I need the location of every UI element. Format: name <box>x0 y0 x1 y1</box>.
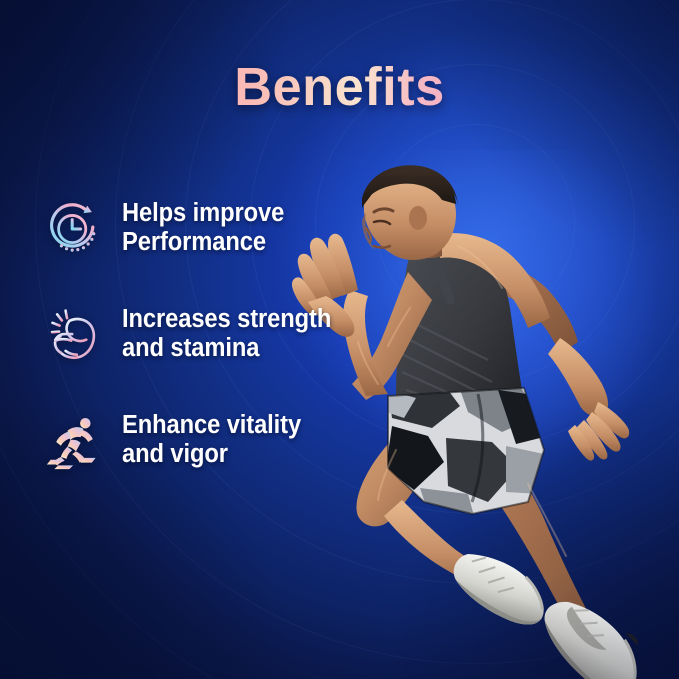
running-person-icon <box>44 410 106 472</box>
stopwatch-clock-icon <box>44 198 106 260</box>
benefit-line-2: Performance <box>122 228 284 257</box>
page-title: Benefits <box>10 60 669 114</box>
flexed-bicep-icon <box>44 304 106 366</box>
benefit-line-1: Increases strength <box>122 305 331 334</box>
benefit-line-1: Helps improve <box>122 199 284 228</box>
benefit-label-strength: Increases strength and stamina <box>122 302 331 363</box>
benefits-list: Helps improve Performance <box>44 196 374 486</box>
benefit-line-2: and stamina <box>122 334 331 363</box>
benefit-label-vitality: Enhance vitality and vigor <box>122 408 301 469</box>
benefits-infographic: Benefits <box>0 0 679 679</box>
benefit-label-performance: Helps improve Performance <box>122 196 284 257</box>
benefit-item-performance: Helps improve Performance <box>44 196 374 274</box>
benefit-line-2: and vigor <box>122 440 301 469</box>
benefit-item-vitality: Enhance vitality and vigor <box>44 408 374 486</box>
benefit-line-1: Enhance vitality <box>122 411 301 440</box>
benefit-item-strength: Increases strength and stamina <box>44 302 374 380</box>
